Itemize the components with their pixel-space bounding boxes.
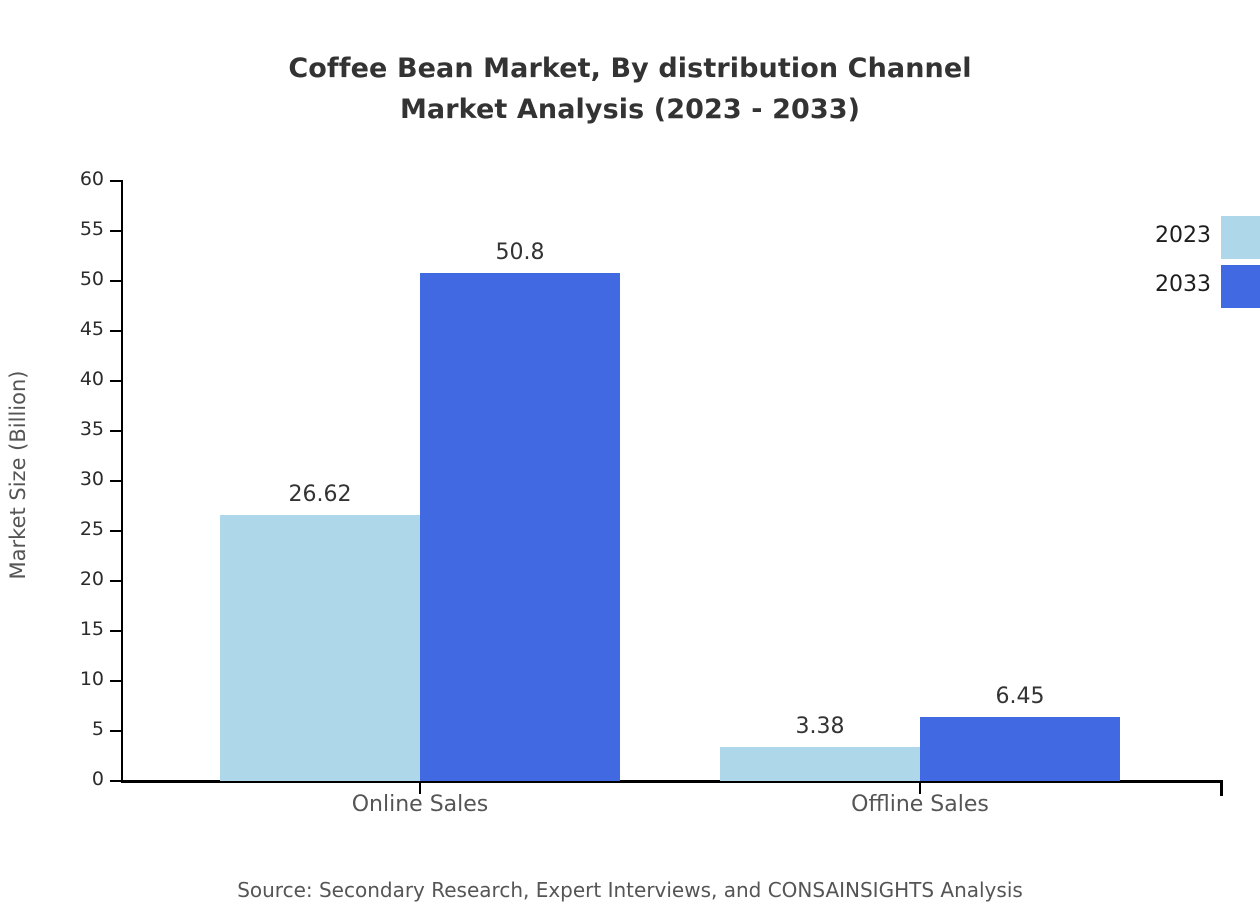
chart-legend: 2023 2033: [1118, 216, 1260, 308]
y-axis-tick: [110, 380, 121, 382]
y-axis-tick-label: 50: [34, 268, 104, 290]
y-axis-tick-label: 5: [34, 718, 104, 740]
bar-value-label: 50.8: [420, 240, 620, 265]
bar-offline-sales-2023[interactable]: [720, 747, 920, 781]
legend-color-swatch: [1221, 216, 1260, 259]
bar-online-sales-2023[interactable]: [220, 515, 420, 781]
legend-item-2033[interactable]: 2033: [1118, 265, 1260, 308]
y-axis-tick: [110, 180, 121, 182]
bar-value-label: 3.38: [720, 714, 920, 739]
y-axis-tick-label: 45: [34, 318, 104, 340]
y-axis-tick-label: 10: [34, 668, 104, 690]
y-axis-title: Market Size (Billion): [6, 195, 30, 755]
x-axis-end-tick: [1220, 783, 1223, 796]
y-axis-tick: [110, 230, 121, 232]
chart-title-line-1: Coffee Bean Market, By distribution Chan…: [288, 53, 971, 84]
chart-title-line-2: Market Analysis (2023 - 2033): [0, 89, 1260, 130]
bar-value-label: 26.62: [220, 482, 420, 507]
y-axis-tick-label: 0: [34, 768, 104, 790]
y-axis-tick: [110, 580, 121, 582]
y-axis-tick: [110, 730, 121, 732]
x-axis-tick-label: Online Sales: [270, 792, 570, 817]
source-note: Source: Secondary Research, Expert Inter…: [0, 878, 1260, 902]
y-axis-tick: [110, 330, 121, 332]
y-axis-tick: [110, 430, 121, 432]
plot-area: 26.6250.83.386.45: [121, 181, 1223, 781]
y-axis-tick-label: 40: [34, 368, 104, 390]
y-axis-tick: [110, 530, 121, 532]
bar-offline-sales-2033[interactable]: [920, 717, 1120, 782]
bar-value-label: 6.45: [920, 684, 1120, 709]
y-axis-tick-label: 55: [34, 218, 104, 240]
y-axis-tick-label: 20: [34, 568, 104, 590]
y-axis-tick-label: 30: [34, 468, 104, 490]
bar-online-sales-2033[interactable]: [420, 273, 620, 781]
y-axis-tick-label: 35: [34, 418, 104, 440]
y-axis-tick: [110, 280, 121, 282]
y-axis-tick-label: 15: [34, 618, 104, 640]
y-axis-tick-label: 60: [34, 168, 104, 190]
y-axis-tick: [110, 780, 121, 782]
legend-item-2023[interactable]: 2023: [1118, 216, 1260, 259]
y-axis-tick-label: 25: [34, 518, 104, 540]
legend-color-swatch: [1221, 265, 1260, 308]
y-axis-tick: [110, 630, 121, 632]
y-axis-tick: [110, 680, 121, 682]
legend-item-label: 2033: [1118, 272, 1211, 297]
x-axis-tick-label: Offline Sales: [770, 792, 1070, 817]
chart-title: Coffee Bean Market, By distribution Chan…: [0, 48, 1260, 130]
legend-item-label: 2023: [1118, 223, 1211, 248]
y-axis-tick: [110, 480, 121, 482]
chart-figure: Coffee Bean Market, By distribution Chan…: [0, 0, 1260, 920]
